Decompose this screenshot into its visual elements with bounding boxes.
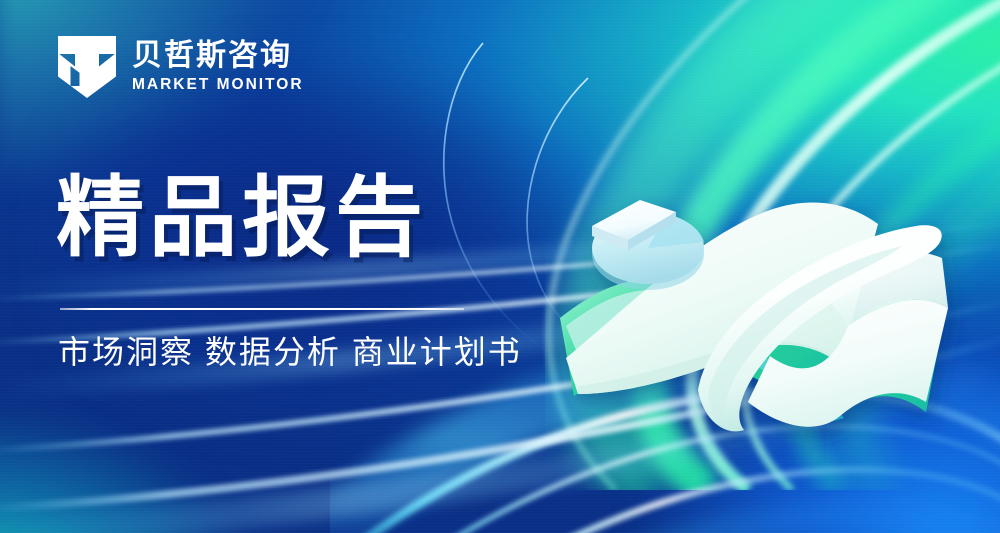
title-divider: [60, 308, 464, 310]
open-book-icon: [548, 150, 968, 450]
page-title: 精品报告: [56, 172, 428, 264]
brand-logo-text: 贝哲斯咨询 MARKET MONITOR: [132, 39, 304, 96]
brand-logo: 贝哲斯咨询 MARKET MONITOR: [58, 36, 304, 98]
company-name-en: MARKET MONITOR: [132, 75, 304, 95]
company-name-cn: 贝哲斯咨询: [132, 39, 304, 73]
report-banner: 贝哲斯咨询 MARKET MONITOR 精品报告 市场洞察 数据分析 商业计划…: [0, 0, 1000, 533]
m-monogram-icon: [58, 36, 116, 98]
page-subtitle: 市场洞察 数据分析 商业计划书: [58, 332, 522, 374]
